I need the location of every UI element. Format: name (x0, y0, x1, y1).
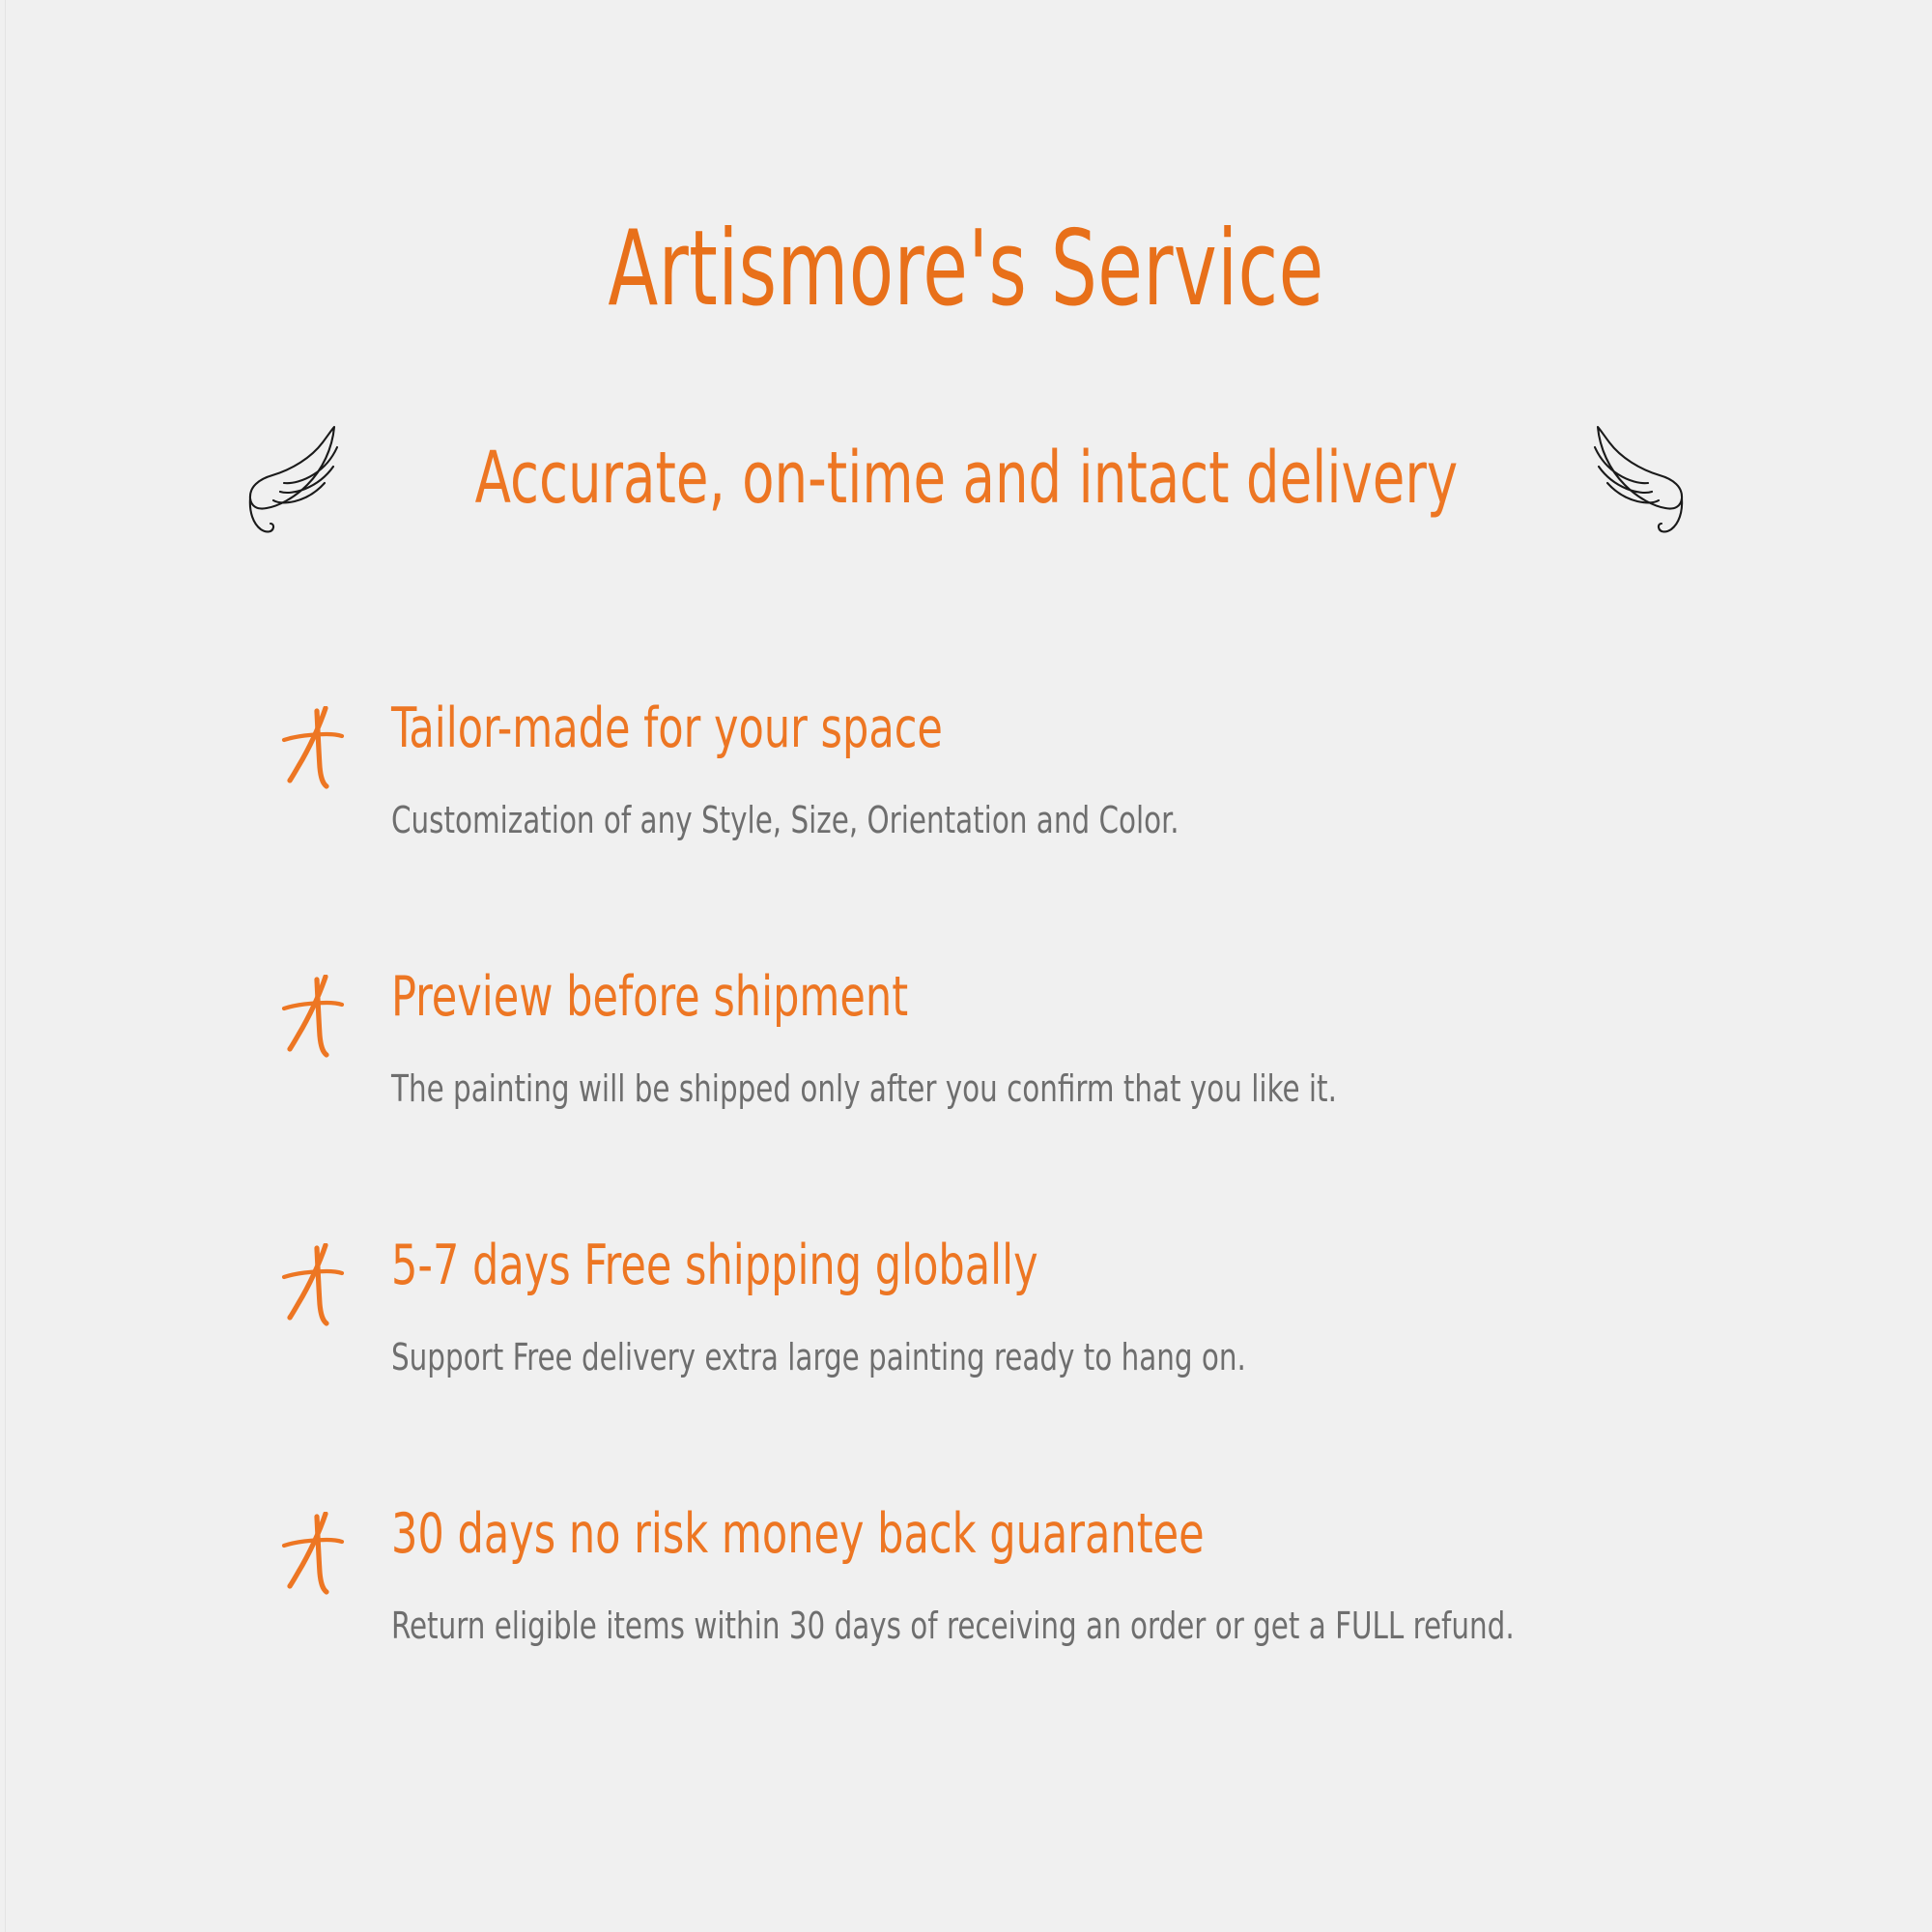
feature-title: Tailor-made for your space (391, 700, 1161, 758)
feature-item: 30 days no risk money back guarantee Ret… (0, 1506, 1932, 1775)
feature-list: Tailor-made for your space Customization… (0, 700, 1932, 1775)
script-a-bullet-icon (280, 1512, 348, 1599)
script-a-bullet-icon (280, 706, 348, 793)
page-title: Artismore's Service (213, 214, 1719, 324)
feature-description: Customization of any Style, Size, Orient… (391, 799, 1179, 843)
script-a-bullet-icon (280, 1243, 348, 1330)
feature-description: Return eligible items within 30 days of … (391, 1605, 1515, 1649)
feature-title: 5-7 days Free shipping globally (391, 1237, 1226, 1295)
feature-title: Preview before shipment (391, 969, 1315, 1027)
feature-item: 5-7 days Free shipping globally Support … (0, 1237, 1932, 1506)
feature-item: Preview before shipment The painting wil… (0, 969, 1932, 1237)
feature-body: Tailor-made for your space Customization… (391, 700, 1307, 842)
feature-title: 30 days no risk money back guarantee (391, 1506, 1489, 1564)
feature-body: 5-7 days Free shipping globally Support … (391, 1237, 1385, 1379)
angel-wing-right-icon (1582, 415, 1698, 541)
feature-description: Support Free delivery extra large painti… (391, 1336, 1246, 1380)
service-info-page: Artismore's Service Accurate, on-time an… (0, 0, 1932, 1932)
angel-wing-left-icon (234, 415, 350, 541)
delivery-promise-text: Accurate, on-time and intact delivery (471, 442, 1461, 514)
feature-body: Preview before shipment The painting wil… (391, 969, 1491, 1111)
script-a-bullet-icon (280, 975, 348, 1062)
delivery-promise-banner: Accurate, on-time and intact delivery (0, 406, 1932, 551)
feature-body: 30 days no risk money back guarantee Ret… (391, 1506, 1697, 1648)
feature-description: The painting will be shipped only after … (391, 1067, 1337, 1112)
feature-item: Tailor-made for your space Customization… (0, 700, 1932, 969)
